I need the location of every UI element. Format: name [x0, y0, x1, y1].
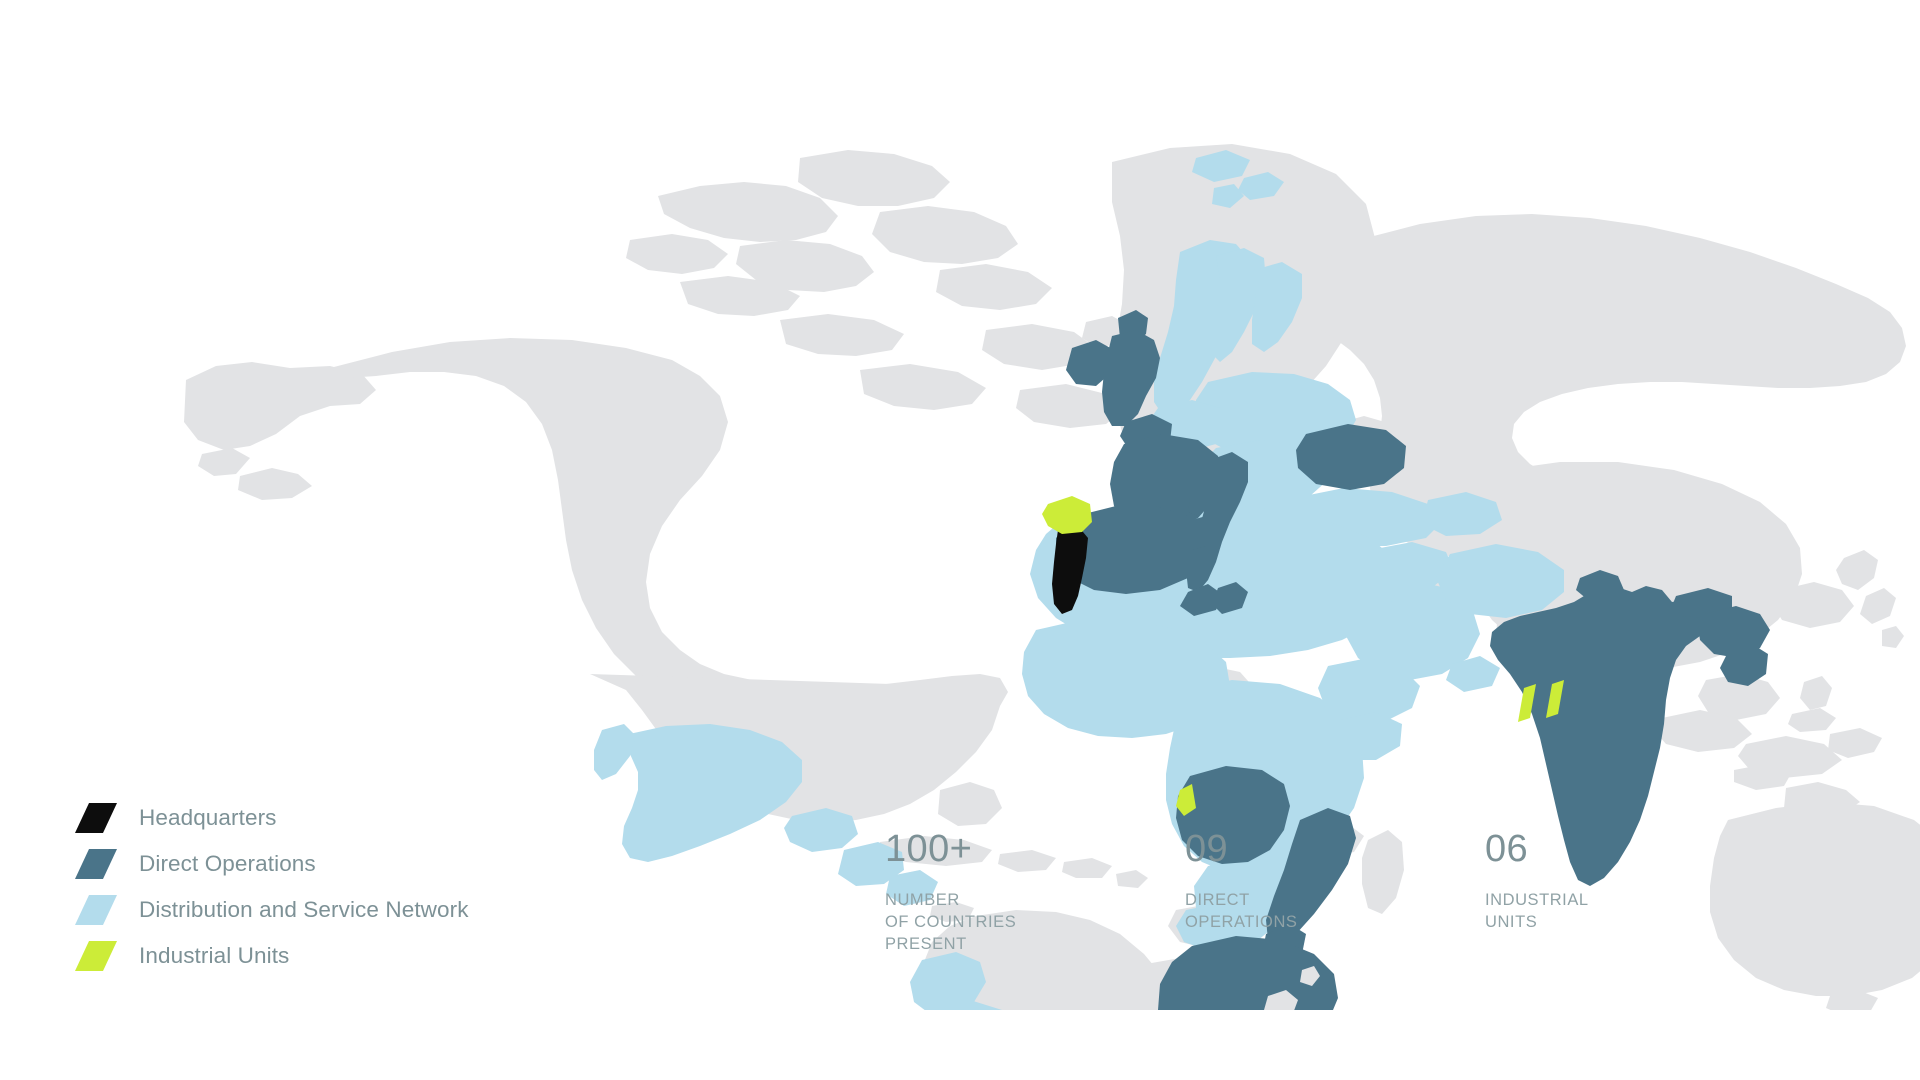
stat-countries-present-label: NUMBER OF COUNTRIES PRESENT [885, 890, 1185, 955]
global-presence-infographic: .g { fill:#e2e3e5; } /* not present */ .… [0, 0, 1920, 1080]
legend-item-industrial-units[interactable]: Industrial Units [75, 933, 635, 979]
stat-direct-operations-label: DIRECT OPERATIONS [1185, 890, 1485, 934]
legend-swatch-industrial-units-icon [75, 941, 117, 971]
stat-industrial-units-value: 06 [1485, 830, 1745, 868]
stat-industrial-units-label: INDUSTRIAL UNITS [1485, 890, 1745, 934]
statistics-row: 100+ NUMBER OF COUNTRIES PRESENT 09 DIRE… [885, 830, 1745, 955]
legend-item-headquarters[interactable]: Headquarters [75, 795, 635, 841]
legend-swatch-headquarters-icon [75, 803, 117, 833]
legend-item-direct-operations[interactable]: Direct Operations [75, 841, 635, 887]
stat-direct-operations-value: 09 [1185, 830, 1485, 868]
legend-label-distribution-network: Distribution and Service Network [139, 897, 469, 923]
legend-swatch-distribution-icon [75, 895, 117, 925]
stat-countries-present-value: 100+ [885, 830, 1185, 868]
legend-label-industrial-units: Industrial Units [139, 943, 289, 969]
map-legend: Headquarters Direct Operations Distribut… [75, 795, 635, 979]
legend-label-headquarters: Headquarters [139, 805, 277, 831]
stat-countries-present: 100+ NUMBER OF COUNTRIES PRESENT [885, 830, 1185, 955]
legend-swatch-direct-operations-icon [75, 849, 117, 879]
stat-direct-operations: 09 DIRECT OPERATIONS [1185, 830, 1485, 955]
stat-industrial-units: 06 INDUSTRIAL UNITS [1485, 830, 1745, 955]
legend-item-distribution-network[interactable]: Distribution and Service Network [75, 887, 635, 933]
legend-label-direct-operations: Direct Operations [139, 851, 316, 877]
